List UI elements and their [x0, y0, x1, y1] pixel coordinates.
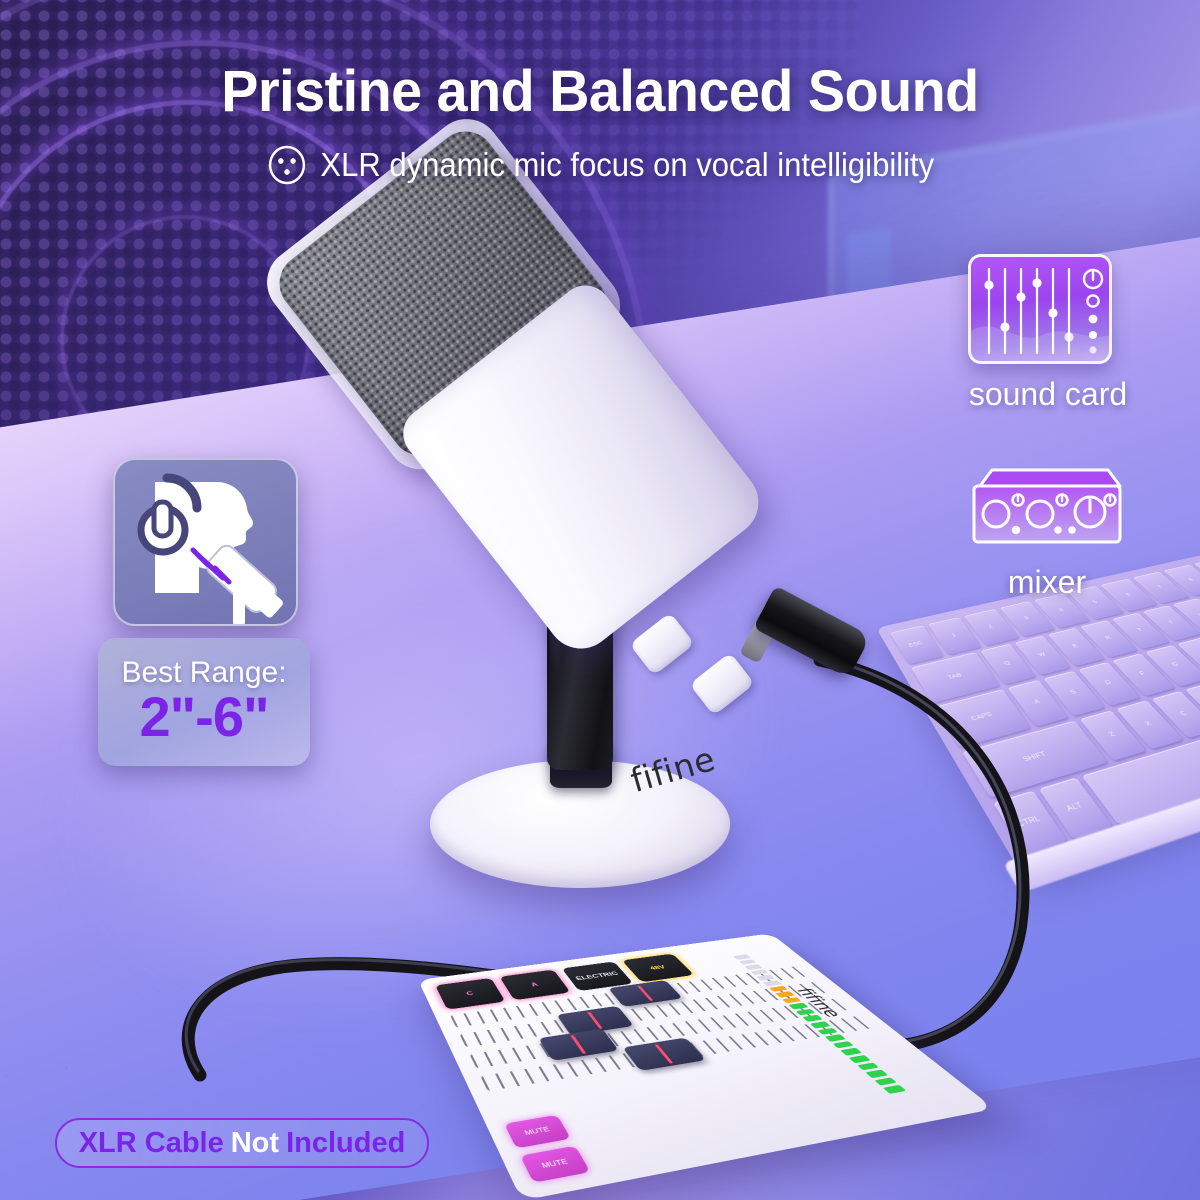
mic-gain-knob[interactable] [629, 612, 695, 676]
microphone-product: fifine [300, 230, 860, 930]
pad-label: ELECTRIC [574, 971, 619, 982]
mute-button[interactable]: MUTE [504, 1115, 571, 1149]
mixer-label: mixer [932, 564, 1162, 601]
range-label: Best Range: [121, 658, 286, 688]
mixer-box-icon [962, 464, 1132, 560]
range-value: 2"-6" [139, 688, 268, 747]
page-title: Pristine and Balanced Sound [24, 58, 1176, 125]
mixer-badge: mixer [962, 464, 1132, 614]
mute-button[interactable]: MUTE [520, 1146, 590, 1183]
pad-48v[interactable]: 48V [622, 954, 694, 983]
mic-volume-knob[interactable] [689, 652, 755, 716]
head-with-headphones-and-mic-distance-icon [115, 460, 298, 626]
xlr-connector-icon [266, 143, 307, 187]
notice-part-a: XLR Cable [79, 1127, 224, 1160]
pad-custom-c[interactable]: C [435, 978, 505, 1010]
notice-part-b: Not [231, 1127, 279, 1160]
sound-card-sliders-icon [971, 257, 1112, 364]
pad-label: 48V [648, 964, 667, 971]
subtitle-text: XLR dynamic mic focus on vocal intelligi… [320, 146, 934, 184]
pad-label: C [465, 990, 474, 996]
xlr-connector-plug [753, 585, 871, 678]
sound-card-icon [968, 254, 1112, 364]
page-subtitle: XLR dynamic mic focus on vocal intelligi… [36, 143, 1164, 187]
pad-custom-a[interactable]: A [499, 970, 570, 1001]
mic-distance-icon-card [113, 458, 298, 626]
mic-body [393, 275, 772, 662]
xlr-cable-notice-badge: XLR Cable Not Included [55, 1118, 429, 1168]
product-marketing-image: ESC123456789 TABQWERTYUIO CAPSASDFGHJKL … [0, 0, 1200, 1200]
best-range-badge: Best Range: 2"-6" [98, 638, 310, 766]
sound-card-badge: sound card [968, 254, 1128, 419]
notice-part-c: Included [286, 1127, 405, 1160]
interface-mute-buttons: MUTE MUTE [504, 1115, 590, 1183]
sound-card-label: sound card [938, 376, 1158, 413]
pad-label: A [530, 981, 540, 987]
